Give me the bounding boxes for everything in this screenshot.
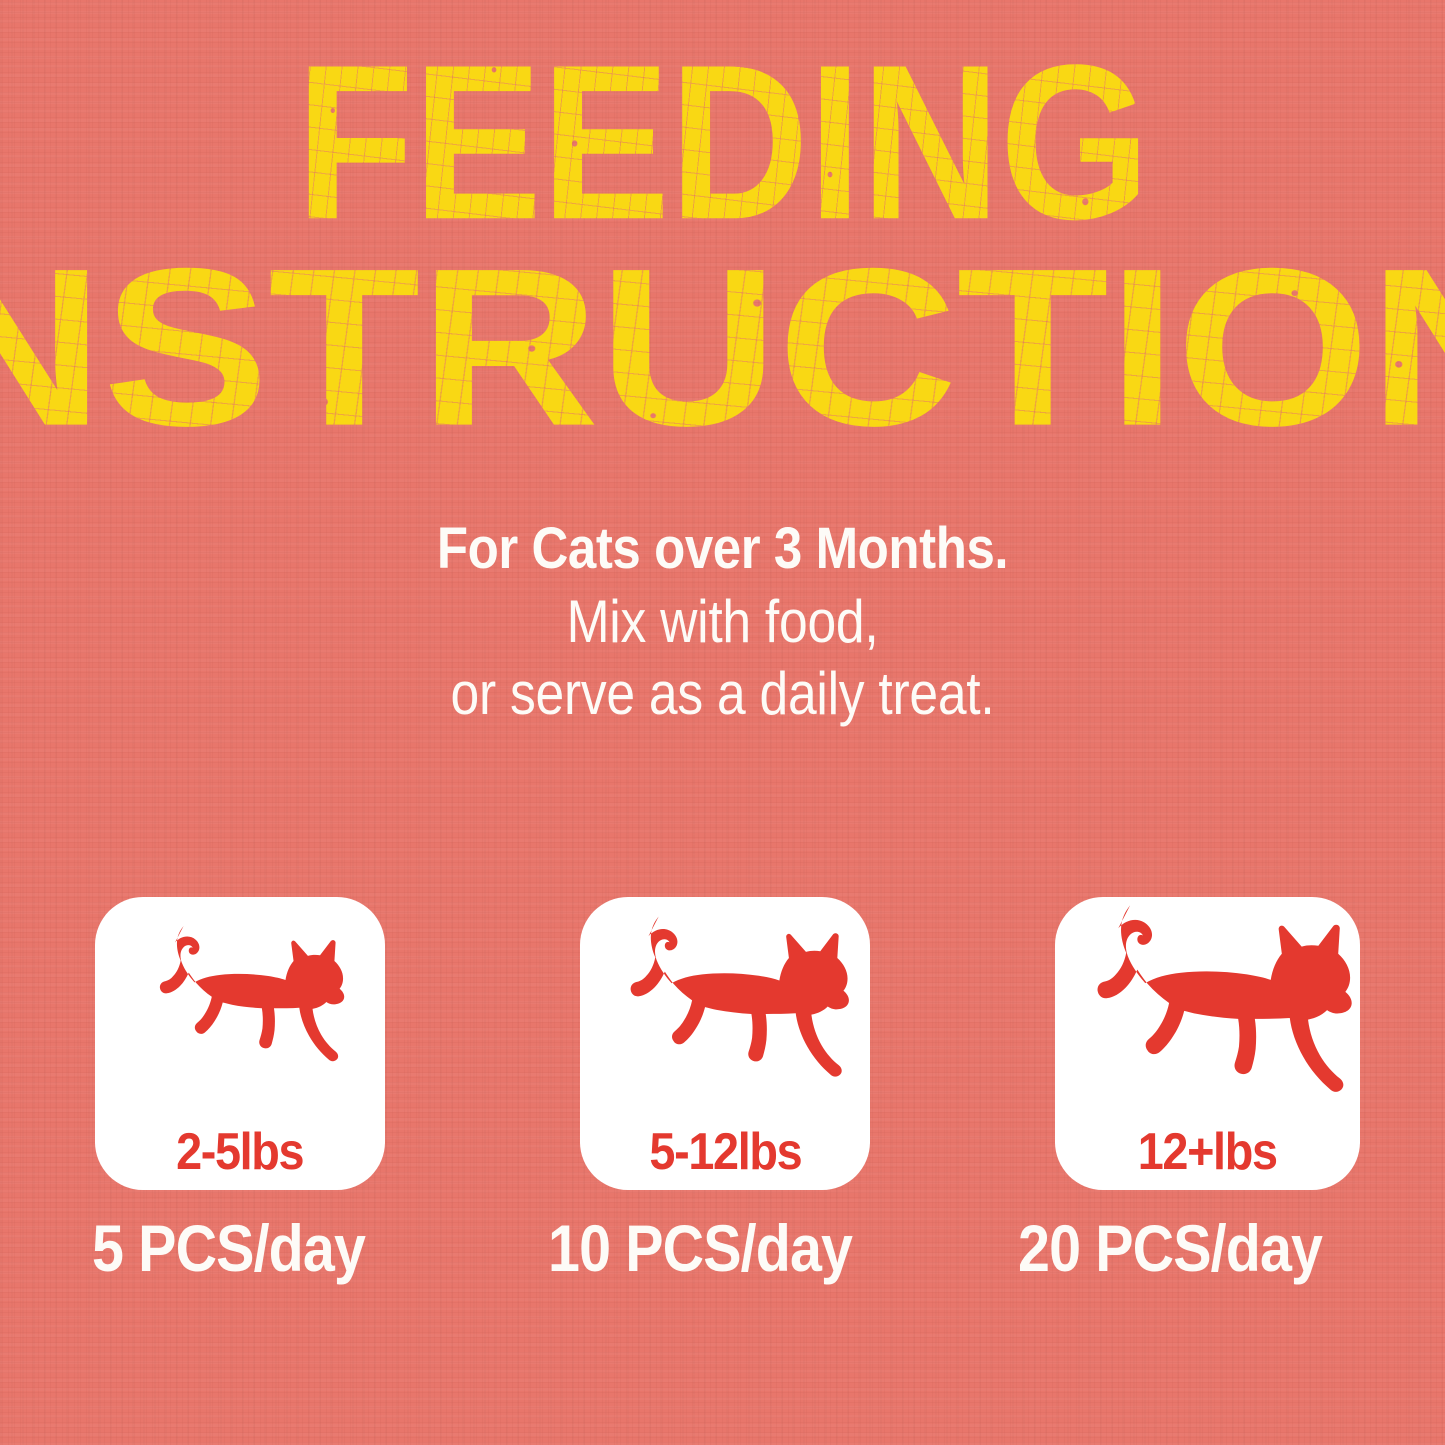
dose-label-small: 5 PCS/day bbox=[92, 1212, 406, 1285]
cat-illustration-medium bbox=[580, 911, 870, 1076]
weight-label: 5-12lbs bbox=[580, 1126, 870, 1178]
headline-line-1: FEEDING bbox=[51, 47, 1395, 241]
headline-line-2: INSTRUCTIONS bbox=[0, 250, 1445, 448]
weight-card-large: 12+lbs bbox=[1055, 897, 1360, 1190]
walking-cat-icon bbox=[613, 911, 838, 1076]
instructions-text: For Cats over 3 Months. Mix with food, o… bbox=[0, 520, 1445, 724]
page-title: FEEDING INSTRUCTIONS bbox=[0, 52, 1445, 440]
dose-label-row: 5 PCS/day 10 PCS/day 20 PCS/day bbox=[0, 1212, 1445, 1302]
weight-card-medium: 5-12lbs bbox=[580, 897, 870, 1190]
walking-cat-icon bbox=[145, 921, 335, 1061]
weight-label: 2-5lbs bbox=[95, 1126, 385, 1178]
weight-card-row: 2-5lbs 5-12lbs 12+lbs bbox=[0, 897, 1445, 1197]
cat-illustration-large bbox=[1055, 901, 1360, 1091]
weight-card-small: 2-5lbs bbox=[95, 897, 385, 1190]
weight-label: 12+lbs bbox=[1055, 1126, 1360, 1178]
walking-cat-icon bbox=[1077, 899, 1339, 1091]
cat-illustration-small bbox=[95, 921, 385, 1061]
instructions-line-3: or serve as a daily treat. bbox=[101, 664, 1344, 724]
instructions-line-1: For Cats over 3 Months. bbox=[87, 520, 1359, 578]
feeding-instructions-poster: FEEDING INSTRUCTIONS For Cats over 3 Mon… bbox=[0, 0, 1445, 1445]
dose-label-large: 20 PCS/day bbox=[1018, 1212, 1368, 1285]
instructions-line-2: Mix with food, bbox=[101, 592, 1344, 652]
dose-label-medium: 10 PCS/day bbox=[548, 1212, 898, 1285]
